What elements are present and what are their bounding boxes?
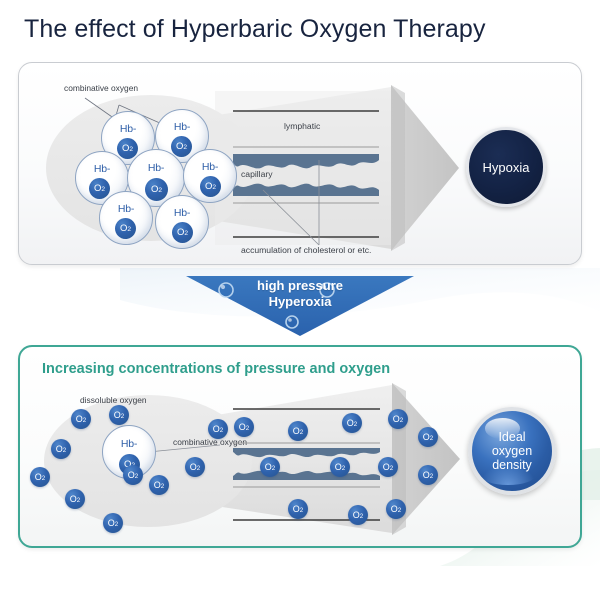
o2-free: O2: [288, 421, 308, 441]
panel-hypoxia: combinative oxygen Hb- O2 Hb- O2 Hb- O2 …: [18, 62, 582, 265]
o2-free: O2: [342, 413, 362, 433]
hypoxia-label: Hypoxia: [483, 160, 530, 175]
o2-free: O2: [386, 499, 406, 519]
triangle-shape: [180, 270, 420, 342]
panel-hyperoxia: Increasing concentrations of pressure an…: [18, 345, 582, 548]
infographic-canvas: The effect of Hyperbaric Oxygen Therapy: [0, 0, 600, 590]
label-capillary: capillary: [241, 169, 273, 179]
label-lymphatic: lymphatic: [284, 121, 320, 131]
hypoxia-badge: Hypoxia: [466, 127, 546, 207]
label-accumulation: accumulation of cholesterol or etc.: [241, 245, 371, 255]
ideal-line1: Ideal: [498, 430, 525, 444]
o2-free: O2: [418, 427, 438, 447]
ideal-line3: density: [492, 458, 532, 472]
page-title: The effect of Hyperbaric Oxygen Therapy: [24, 15, 486, 44]
o2-free: O2: [288, 499, 308, 519]
ideal-oxygen-density-badge: Ideal oxygen density: [468, 407, 556, 495]
o2-free: O2: [378, 457, 398, 477]
o2-free: O2: [330, 457, 350, 477]
o2-free: O2: [388, 409, 408, 429]
transition-arrow: high pressure Hyperoxia: [180, 270, 420, 342]
o2-free: O2: [418, 465, 438, 485]
o2-free: O2: [260, 457, 280, 477]
ideal-line2: oxygen: [492, 444, 532, 458]
o2-free: O2: [348, 505, 368, 525]
o2-free: O2: [234, 417, 254, 437]
